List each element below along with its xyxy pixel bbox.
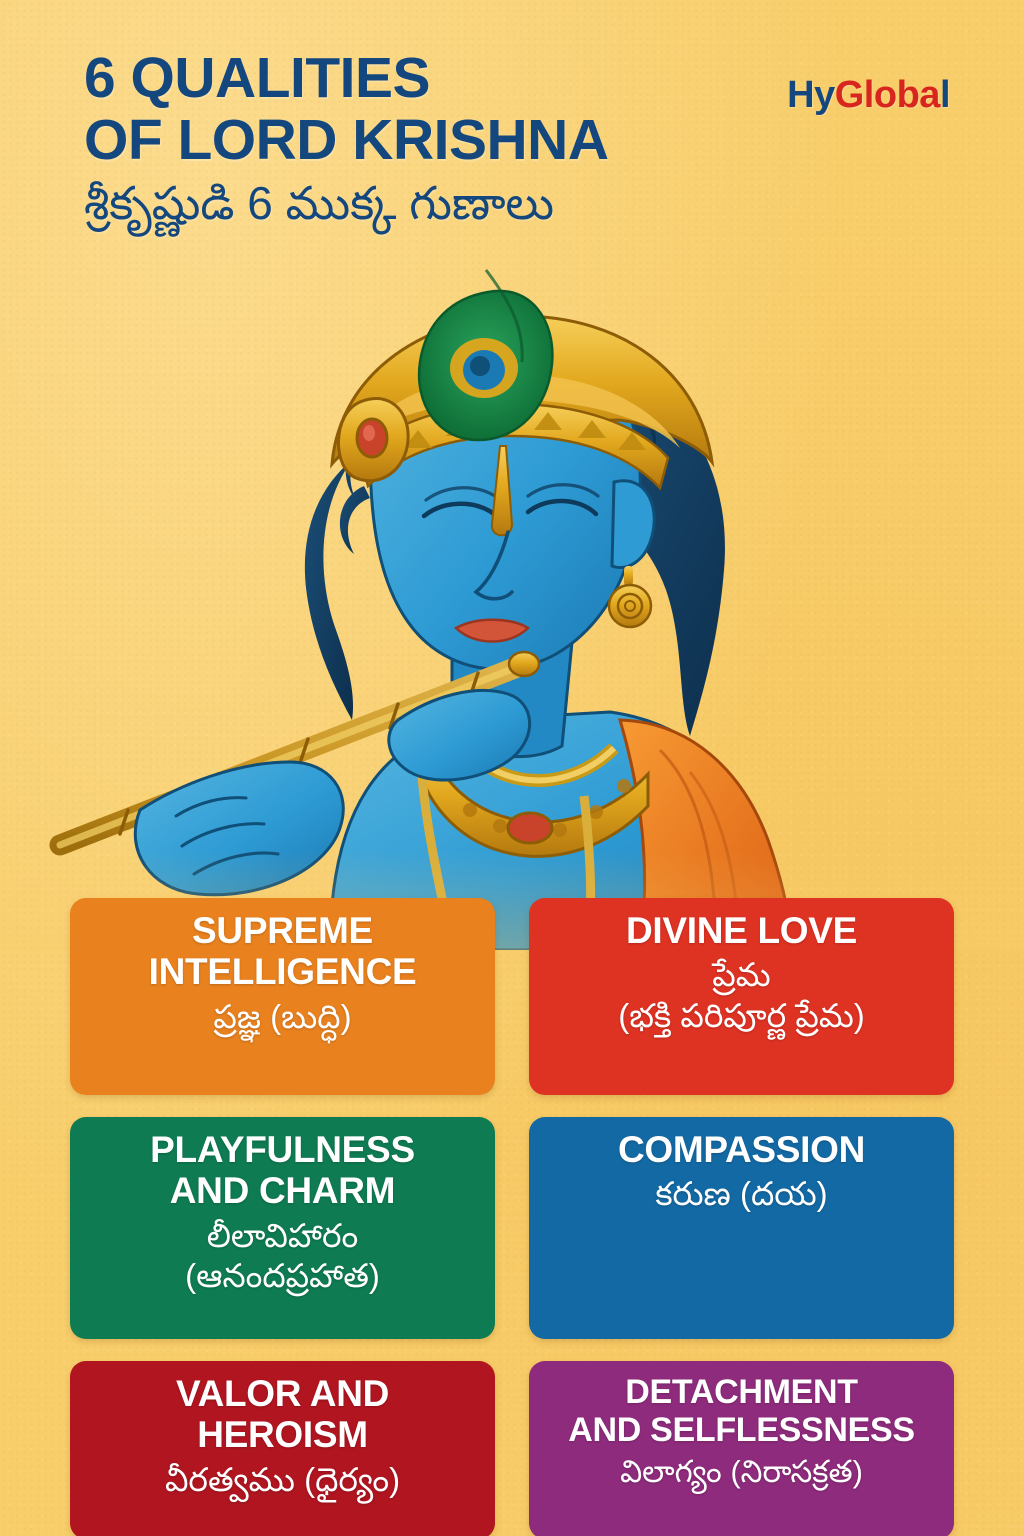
title-block: 6 QUALITIES OF LORD KRISHNA శ్రీకృష్ణుడి… [84, 48, 744, 231]
poster-header: 6 QUALITIES OF LORD KRISHNA శ్రీకృష్ణుడి… [0, 40, 1024, 270]
quality-card-playfulness-and-charm[interactable]: PLAYFULNESS AND CHARM లీలావిహారం (ఆనందప్… [70, 1117, 495, 1339]
peacock-feather [419, 270, 552, 440]
krishna-illustration [0, 250, 1024, 950]
quality-title-en: DIVINE LOVE [626, 910, 857, 951]
quality-card-valor-and-heroism[interactable]: VALOR AND HEROISM వీరత్వము (ధైర్యం) [70, 1361, 495, 1536]
quality-title-en: DETACHMENT AND SELFLESSNESS [568, 1373, 915, 1449]
quality-title-te: లీలావిహారం (ఆనందప్రహాత) [185, 1216, 380, 1297]
quality-title-te: వీరత్వము (ధైర్యం) [165, 1460, 400, 1500]
quality-card-compassion[interactable]: COMPASSION కరుణ (దయ) [529, 1117, 954, 1339]
quality-title-te: ప్రేమ (భక్తి పరిపూర్ణ ప్రేమ) [618, 955, 864, 1036]
quality-title-te: విలాగ్యం (నిరాసక్రత) [620, 1453, 863, 1491]
page-title-telugu: శ్రీకృష్ణుడి 6 ముక్క గుణాలు [84, 175, 744, 231]
quality-title-te: కరుణ (దయ) [655, 1174, 827, 1214]
quality-title-te: ప్రజ్ఞ (బుద్ధి) [213, 997, 351, 1037]
qualities-grid: SUPREME INTELLIGENCE ప్రజ్ఞ (బుద్ధి) DIV… [70, 898, 954, 1536]
krishna-ear [612, 481, 654, 568]
brand-part-globa: Globa [835, 74, 940, 116]
brand-part-l: l [940, 74, 950, 116]
brand-logo-hyglobal[interactable]: HyGlobal [787, 74, 950, 117]
quality-card-divine-love[interactable]: DIVINE LOVE ప్రేమ (భక్తి పరిపూర్ణ ప్రేమ) [529, 898, 954, 1095]
krishna-hair-left [305, 460, 353, 720]
quality-title-en: VALOR AND HEROISM [176, 1373, 389, 1456]
quality-title-en: SUPREME INTELLIGENCE [149, 910, 417, 993]
page-title-english: 6 QUALITIES OF LORD KRISHNA [84, 48, 744, 171]
brand-part-hy: Hy [787, 74, 835, 116]
quality-title-en: PLAYFULNESS AND CHARM [150, 1129, 415, 1212]
infographic-poster: 6 QUALITIES OF LORD KRISHNA శ్రీకృష్ణుడి… [0, 0, 1024, 1536]
quality-card-supreme-intelligence[interactable]: SUPREME INTELLIGENCE ప్రజ్ఞ (బుద్ధి) [70, 898, 495, 1095]
quality-title-en: COMPASSION [618, 1129, 865, 1170]
quality-card-detachment-and-selflessness[interactable]: DETACHMENT AND SELFLESSNESS విలాగ్యం (ని… [529, 1361, 954, 1536]
